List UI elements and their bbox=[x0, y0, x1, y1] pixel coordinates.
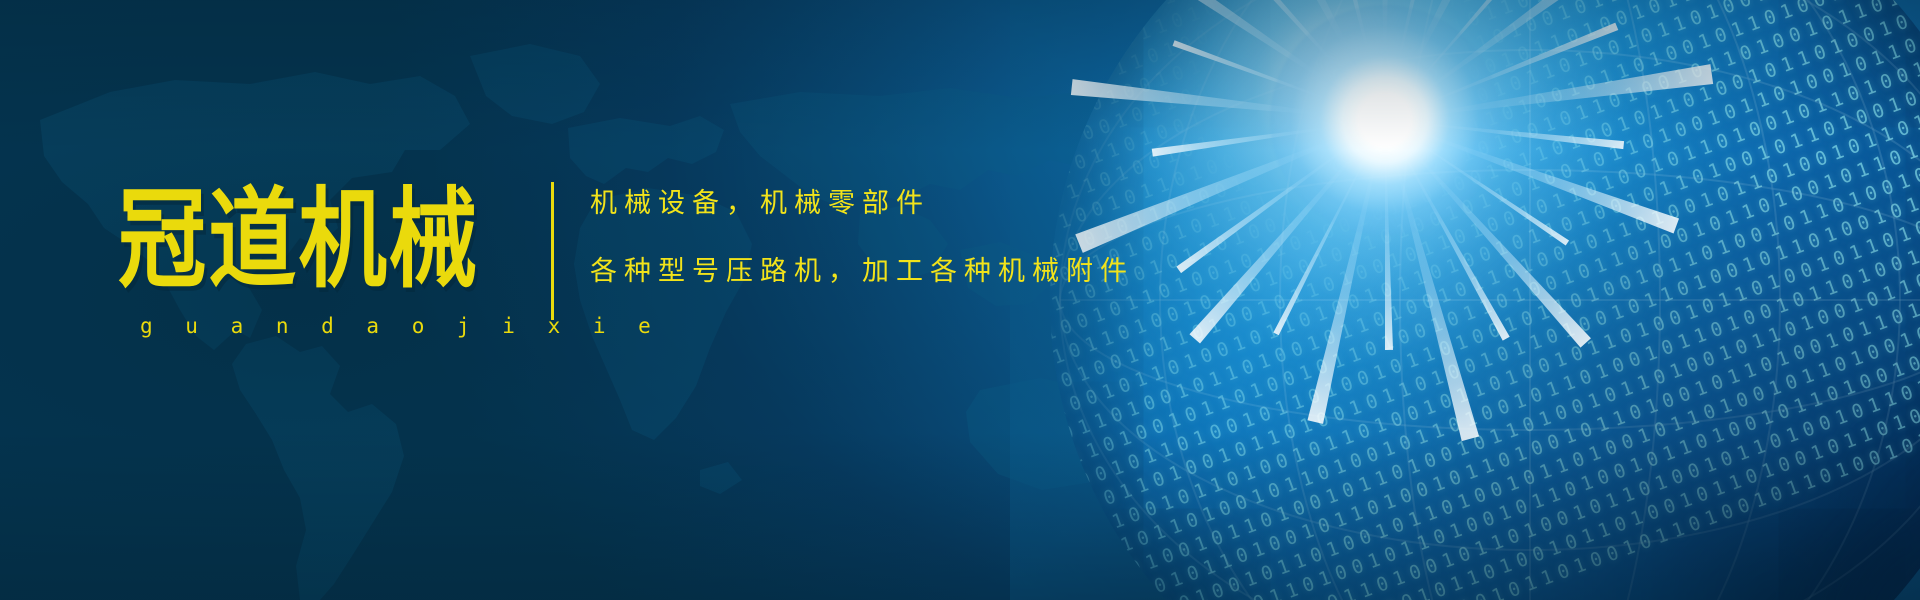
tagline-line-2: 各种型号压路机，加工各种机械附件 bbox=[590, 258, 1190, 285]
brand-logo[interactable]: 冠道机械 g u a n d a o j i x i e bbox=[118, 186, 518, 338]
brand-name-cn: 冠道机械 bbox=[118, 186, 502, 295]
tagline-block: 机械设备，机械零部件 各种型号压路机，加工各种机械附件 bbox=[590, 190, 1190, 285]
brand-name-pinyin: g u a n d a o j i x i e bbox=[118, 314, 518, 338]
hero-banner: 1001011010010110100101101001011010010110… bbox=[0, 0, 1920, 600]
vertical-divider bbox=[551, 182, 554, 320]
tagline-line-1: 机械设备，机械零部件 bbox=[590, 190, 1190, 217]
banner-content: 冠道机械 g u a n d a o j i x i e 机械设备，机械零部件 … bbox=[0, 0, 1200, 600]
